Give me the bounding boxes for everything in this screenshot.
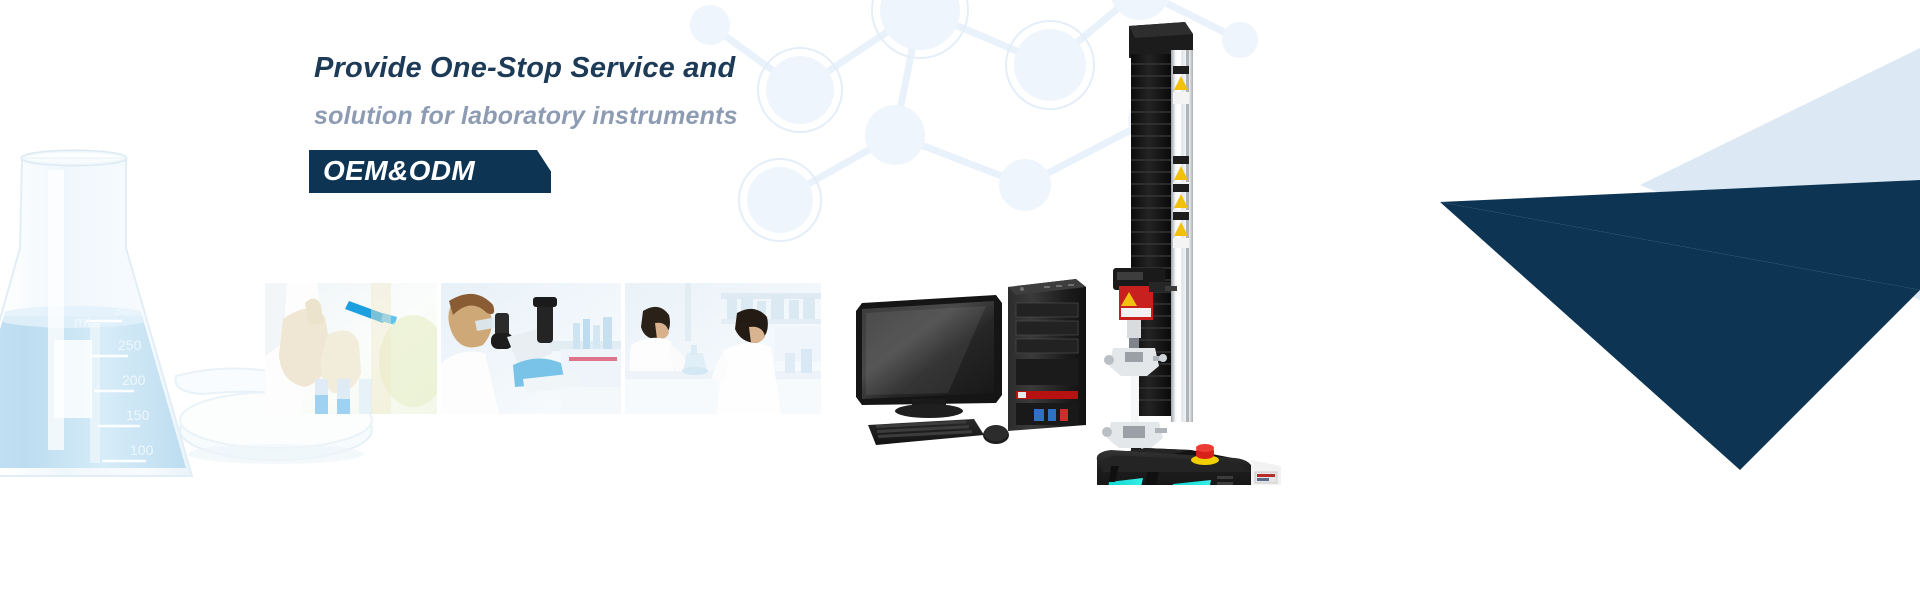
oem-odm-badge[interactable]: OEM&ODM	[309, 150, 551, 193]
photo-microscope-researcher	[441, 283, 621, 414]
svg-text:250: 250	[118, 337, 142, 353]
emergency-stop-button	[1191, 444, 1219, 465]
desktop-computer-image: .	[856, 275, 1091, 450]
base-glow-panel	[1107, 478, 1143, 485]
hero-banner: Provide One-Stop Service and solution fo…	[0, 0, 1920, 597]
warning-label-icon	[1173, 66, 1189, 104]
lab-photo-strip	[265, 283, 821, 414]
photo-lab-technicians	[625, 283, 821, 414]
oem-odm-badge-label: OEM&ODM	[323, 155, 475, 187]
decor-triangle-light	[1480, 0, 1920, 420]
molecule-watermark-icon	[680, 0, 1300, 300]
headline-block: Provide One-Stop Service and solution fo…	[314, 54, 954, 129]
base-glow-panel	[1169, 480, 1211, 485]
warning-label-icon	[1173, 212, 1189, 248]
svg-text:150: 150	[126, 407, 150, 423]
tensile-testing-machine-image	[1085, 20, 1305, 485]
photo-pipetting-gloves	[265, 283, 437, 414]
svg-text:.: .	[902, 401, 903, 407]
headline-line-2: solution for laboratory instruments	[314, 104, 954, 129]
warning-label-icon	[1173, 184, 1189, 220]
svg-text:100: 100	[130, 442, 154, 458]
headline-line-1: Provide One-Stop Service and	[314, 54, 954, 83]
svg-text:300: 300	[114, 302, 138, 318]
decor-triangle-dark	[1440, 0, 1920, 480]
warning-label-icon	[1173, 156, 1189, 192]
svg-text:200: 200	[122, 372, 146, 388]
svg-text:mL: mL	[74, 314, 95, 331]
